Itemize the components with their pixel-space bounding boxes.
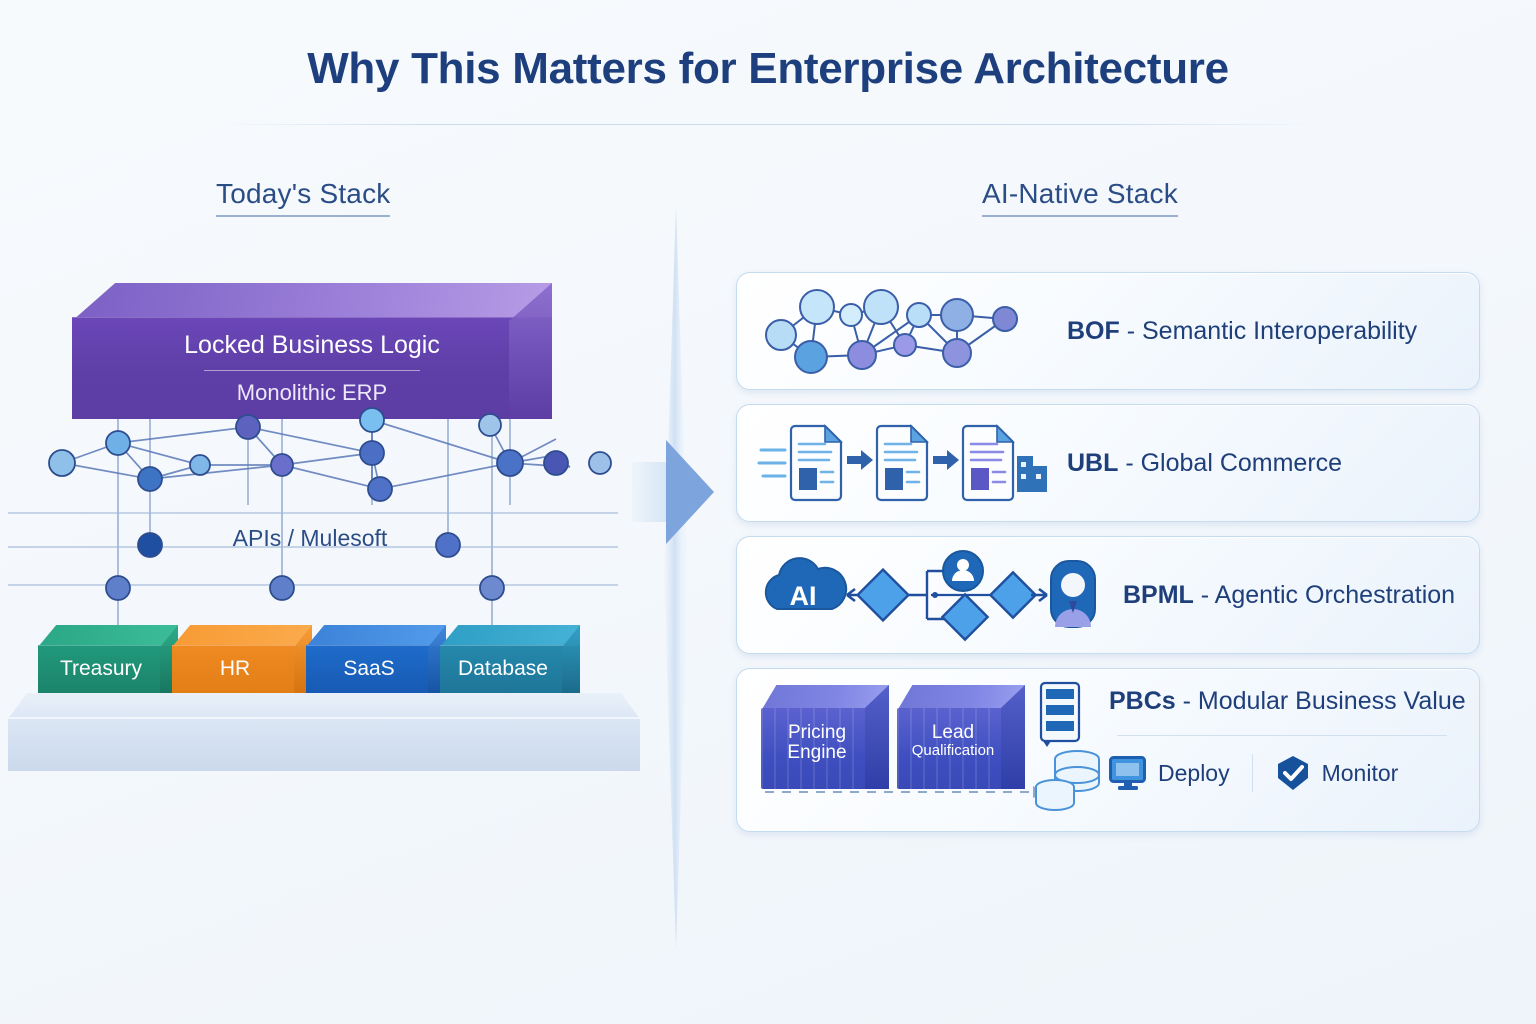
shield-check-icon: [1275, 755, 1311, 791]
pbc-section-divider: [1117, 735, 1447, 736]
document-flow-icon: [759, 418, 1049, 508]
card-pbcs-label: PBCs - Modular Business Value: [1109, 687, 1461, 716]
api-layer-label: APIs / Mulesoft: [0, 525, 620, 552]
erp-block-top-face: [72, 283, 552, 321]
pbc-flow-arrow: [765, 791, 1033, 793]
column-heading-ai-native-stack: AI-Native Stack: [982, 178, 1178, 217]
legacy-box-saas: SaaS: [306, 625, 446, 699]
legacy-box-label: Treasury: [38, 657, 164, 681]
operation-monitor[interactable]: Monitor: [1275, 755, 1399, 791]
server-database-icon: [1033, 683, 1113, 817]
legacy-box-top-face: [172, 625, 312, 647]
card-bof-separator: -: [1120, 317, 1142, 345]
ai-orchestration-icon: AI: [759, 547, 1059, 643]
legacy-box-treasury: Treasury: [38, 625, 178, 699]
operations-divider: [1252, 754, 1253, 792]
column-heading-right-label: AI-Native Stack: [982, 178, 1178, 209]
svg-text:AI: AI: [790, 581, 817, 611]
pbc-block-lead-qualification: Lead Qualification: [897, 685, 1025, 789]
title-divider: [215, 124, 1321, 125]
transition-arrow-icon: [666, 440, 714, 544]
card-ubl-description: Global Commerce: [1141, 449, 1342, 477]
column-heading-right-underline: [982, 215, 1178, 217]
pbc-block-line1: Pricing: [761, 723, 873, 743]
platform-front-face: [8, 717, 640, 771]
card-ubl-label: UBL - Global Commerce: [1067, 449, 1342, 478]
legacy-box-top-face: [440, 625, 580, 647]
server-rack-icon: [1041, 683, 1079, 747]
center-divider: [664, 205, 688, 950]
legacy-box-top-face: [306, 625, 446, 647]
erp-primary-label: Locked Business Logic: [72, 331, 552, 360]
legacy-box-label: Database: [440, 657, 566, 681]
pbc-block-pricing-engine: Pricing Engine: [761, 685, 889, 789]
card-pbcs[interactable]: Pricing Engine Lead Qualification: [736, 668, 1480, 832]
network-graph-icon: [759, 285, 1049, 377]
column-heading-left-underline: [216, 215, 390, 217]
erp-secondary-label: Monolithic ERP: [72, 380, 552, 406]
pbc-block-line2: Engine: [761, 743, 873, 763]
pbc-block-label: Lead Qualification: [897, 723, 1009, 759]
pbc-block-line1: Lead: [897, 723, 1009, 743]
pbc-block-label: Pricing Engine: [761, 723, 873, 763]
legacy-box-database: Database: [440, 625, 580, 699]
monitor-icon: [1109, 756, 1147, 790]
legacy-box-label: SaaS: [306, 657, 432, 681]
pbc-card-text-area: PBCs - Modular Business Value Deploy: [1109, 687, 1461, 792]
card-pbcs-lead: PBCs: [1109, 687, 1176, 715]
card-bof-description: Semantic Interoperability: [1142, 317, 1417, 345]
card-bpml-description: Agentic Orchestration: [1215, 581, 1455, 609]
card-bpml[interactable]: AI: [736, 536, 1480, 654]
legacy-platform-base: [8, 693, 640, 769]
ai-native-stack-cards: BOF - Semantic Interoperability: [736, 272, 1480, 846]
card-bpml-lead: BPML: [1123, 581, 1194, 609]
operation-monitor-label: Monitor: [1322, 760, 1399, 787]
pbc-block-line2: Qualification: [897, 743, 1009, 759]
legacy-box-top-face: [38, 625, 178, 647]
card-bpml-label: BPML - Agentic Orchestration: [1123, 581, 1455, 610]
card-bof-label: BOF - Semantic Interoperability: [1067, 317, 1417, 346]
operation-deploy[interactable]: Deploy: [1109, 756, 1230, 790]
page-title: Why This Matters for Enterprise Architec…: [0, 44, 1536, 94]
column-heading-todays-stack: Today's Stack: [216, 178, 390, 217]
monolithic-erp-block: Locked Business Logic Monolithic ERP: [72, 283, 552, 419]
card-ubl-lead: UBL: [1067, 449, 1118, 477]
api-mesh-graph: [0, 415, 660, 605]
platform-top-face: [8, 693, 640, 719]
user-node-icon: [943, 551, 983, 591]
card-pbcs-separator: -: [1176, 687, 1198, 715]
agent-avatar-icon: [1051, 561, 1095, 627]
ai-cloud-icon: AI: [766, 558, 846, 611]
card-ubl[interactable]: UBL - Global Commerce: [736, 404, 1480, 522]
legacy-box-hr: HR: [172, 625, 312, 699]
card-ubl-separator: -: [1118, 449, 1140, 477]
legacy-box-label: HR: [172, 657, 298, 681]
card-bof[interactable]: BOF - Semantic Interoperability: [736, 272, 1480, 390]
card-bpml-separator: -: [1194, 581, 1215, 609]
pbc-operations-row: Deploy Monitor: [1109, 754, 1461, 792]
todays-stack-diagram: Locked Business Logic Monolithic ERP: [0, 255, 660, 785]
erp-label-divider: [204, 370, 420, 371]
database-cylinder-icon: [1036, 751, 1099, 810]
operation-deploy-label: Deploy: [1158, 760, 1230, 787]
column-heading-left-label: Today's Stack: [216, 178, 390, 209]
card-bof-lead: BOF: [1067, 317, 1120, 345]
card-pbcs-description: Modular Business Value: [1198, 687, 1466, 715]
erp-block-labels: Locked Business Logic Monolithic ERP: [72, 331, 552, 406]
